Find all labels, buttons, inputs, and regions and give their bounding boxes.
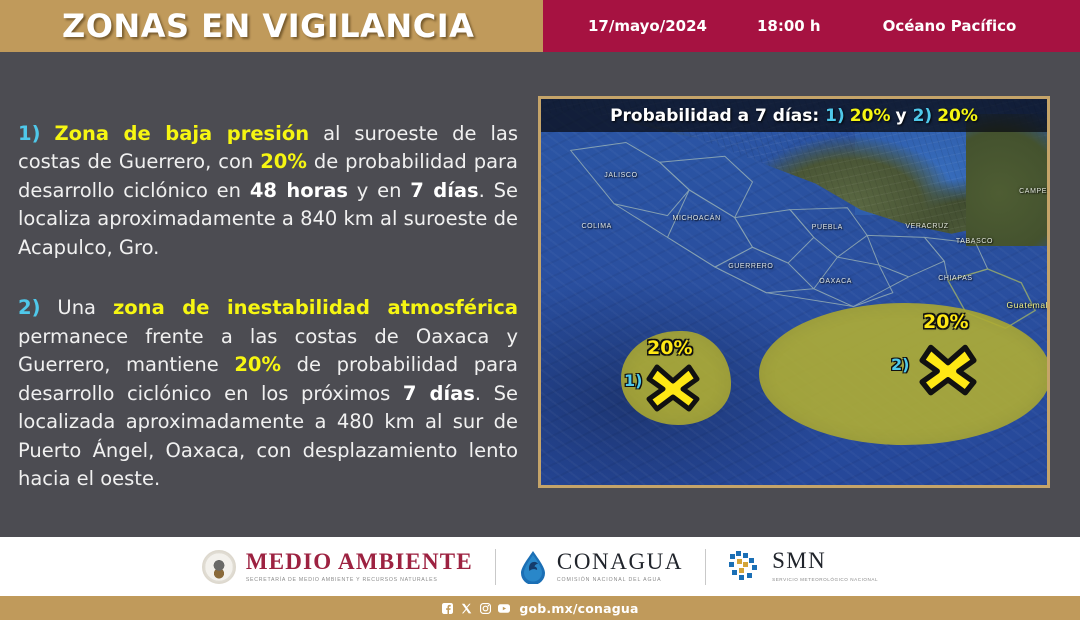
caption-zone-1-prob: 20% [850, 106, 891, 126]
zone-2-probability-label: 20% [923, 311, 968, 333]
mexican-coat-of-arms-icon [202, 550, 236, 584]
zone-2-x-icon [917, 341, 979, 397]
logo-conagua: CONAGUA COMISIÓN NACIONAL DEL AGUA [518, 550, 683, 584]
zone-1-probability-label: 20% [647, 337, 692, 359]
logo-medio-ambiente: MEDIO AMBIENTE SECRETARÍA DE MEDIO AMBIE… [202, 550, 473, 584]
water-drop-eagle-icon [518, 550, 548, 584]
zone-1-id-label: 1) [624, 371, 642, 390]
zone-2-id-label: 2) [891, 355, 909, 374]
header-bar: ZONAS EN VIGILANCIA 17/mayo/2024 18:00 h… [0, 0, 1080, 52]
bulletin-text-column: 1) Zona de baja presión al suroeste de l… [18, 120, 518, 494]
conagua-subtitle: COMISIÓN NACIONAL DEL AGUA [557, 577, 683, 583]
item-2-prob: 20% [234, 353, 281, 376]
item-2-index: 2) [18, 296, 40, 319]
facebook-icon[interactable] [441, 602, 453, 614]
bulletin-item-1: 1) Zona de baja presión al suroeste de l… [18, 120, 518, 262]
map-canvas: JALISCOCOLIMAMICHOACÁNGUERREROPUEBLAOAXA… [541, 99, 1047, 485]
caption-zone-1-id: 1) [825, 106, 845, 126]
infographic-page: ZONAS EN VIGILANCIA 17/mayo/2024 18:00 h… [0, 0, 1080, 620]
item-2-window-7d: 7 días [403, 382, 475, 405]
medio-ambiente-title: MEDIO AMBIENTE [246, 550, 473, 574]
caption-label: Probabilidad a 7 días: [610, 106, 819, 126]
social-bar: gob.mx/conagua [0, 596, 1080, 620]
caption-conjunction: y [895, 106, 906, 126]
logo-smn: SMN SERVICIO METEOROLÓGICO NACIONAL [728, 549, 878, 583]
logo-divider-2 [705, 549, 706, 585]
conagua-title: CONAGUA [557, 550, 683, 574]
item-1-prob: 20% [260, 150, 307, 173]
social-icon-group [441, 602, 510, 614]
forecast-map[interactable]: JALISCOCOLIMAMICHOACÁNGUERREROPUEBLAOAXA… [538, 96, 1050, 488]
header-meta-band: 17/mayo/2024 18:00 h Océano Pacífico [543, 0, 1080, 52]
social-handle: gob.mx/conagua [519, 601, 638, 616]
bulletin-date: 17/mayo/2024 [588, 17, 707, 35]
header-title-band: ZONAS EN VIGILANCIA [0, 0, 543, 52]
item-2-headline: zona de inestabilidad atmosférica [113, 296, 518, 319]
item-1-window-48h: 48 horas [250, 179, 348, 202]
item-1-window-7d: 7 días [410, 179, 478, 202]
item-1-index: 1) [18, 122, 40, 145]
smn-subtitle: SERVICIO METEOROLÓGICO NACIONAL [772, 577, 878, 584]
ocean-basin-label: Océano Pacífico [883, 17, 1017, 35]
page-title: ZONAS EN VIGILANCIA [62, 7, 474, 45]
item-1-text-c: y en [348, 179, 410, 202]
bulletin-item-2: 2) Una zona de inestabilidad atmosférica… [18, 294, 518, 493]
medio-ambiente-subtitle: SECRETARÍA DE MEDIO AMBIENTE Y RECURSOS … [246, 577, 473, 583]
caption-zone-2-id: 2) [913, 106, 933, 126]
zone-1-x-icon [645, 361, 701, 413]
item-1-headline: Zona de baja presión [54, 122, 309, 145]
x-twitter-icon[interactable] [460, 602, 472, 614]
logo-divider-1 [495, 549, 496, 585]
map-caption-bar: Probabilidad a 7 días: 1) 20% y 2) 20% [541, 99, 1047, 132]
watch-zone-2-marker[interactable]: 20% 2) [841, 307, 1021, 427]
footer-logo-bar: MEDIO AMBIENTE SECRETARÍA DE MEDIO AMBIE… [0, 537, 1080, 596]
instagram-icon[interactable] [479, 602, 491, 614]
smn-spiral-icon [728, 550, 764, 584]
watch-zone-1-marker[interactable]: 20% 1) [621, 331, 731, 425]
item-2-text-a: Una [40, 296, 112, 319]
smn-title: SMN [772, 549, 878, 573]
youtube-icon[interactable] [498, 602, 510, 614]
caption-zone-2-prob: 20% [937, 106, 978, 126]
bulletin-time: 18:00 h [757, 17, 821, 35]
